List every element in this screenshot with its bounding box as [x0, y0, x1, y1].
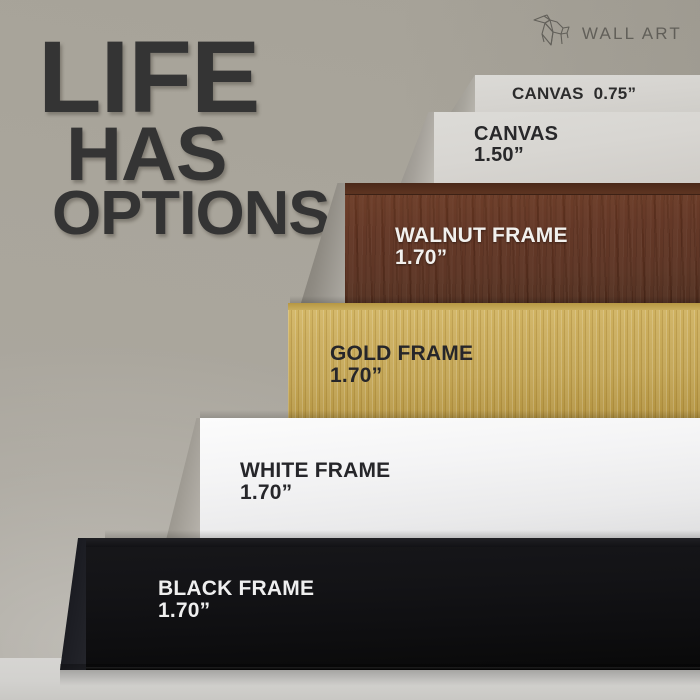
option-canvas-075[interactable]: CANVAS 0.75” — [475, 75, 700, 115]
headline-line-3: OPTIONS — [52, 187, 329, 240]
option-gold-frame[interactable]: GOLD FRAME1.70” — [288, 303, 700, 419]
black-label: BLACK FRAME1.70” — [158, 578, 314, 623]
product-options-poster: LIFE HAS OPTIONS WALL ART CANVAS 0.75” — [0, 0, 700, 700]
gold-label: GOLD FRAME1.70” — [330, 343, 473, 388]
origami-goat-icon — [531, 14, 573, 53]
headline-line-2: HAS — [66, 122, 329, 187]
white-label: WHITE FRAME1.70” — [240, 460, 390, 505]
brand-logo: WALL ART — [531, 14, 682, 53]
option-black-frame[interactable]: BLACK FRAME1.70” — [86, 538, 700, 670]
headline-line-1: LIFE — [38, 34, 330, 122]
brand-name: WALL ART — [582, 24, 682, 44]
walnut-label: WALNUT FRAME1.70” — [395, 225, 568, 270]
black-top-bevel — [86, 538, 700, 547]
walnut-top-bevel — [345, 183, 700, 195]
gold-top-bevel — [288, 303, 700, 310]
option-white-frame[interactable]: WHITE FRAME1.70” — [200, 418, 700, 540]
black-base-edge — [86, 667, 700, 670]
option-walnut-frame[interactable]: WALNUT FRAME1.70” — [345, 183, 700, 303]
page-title: LIFE HAS OPTIONS — [38, 34, 324, 240]
canvas-075-label: CANVAS 0.75” — [512, 85, 636, 103]
canvas-150-label: CANVAS1.50” — [474, 124, 558, 166]
option-canvas-150[interactable]: CANVAS1.50” — [434, 112, 700, 190]
